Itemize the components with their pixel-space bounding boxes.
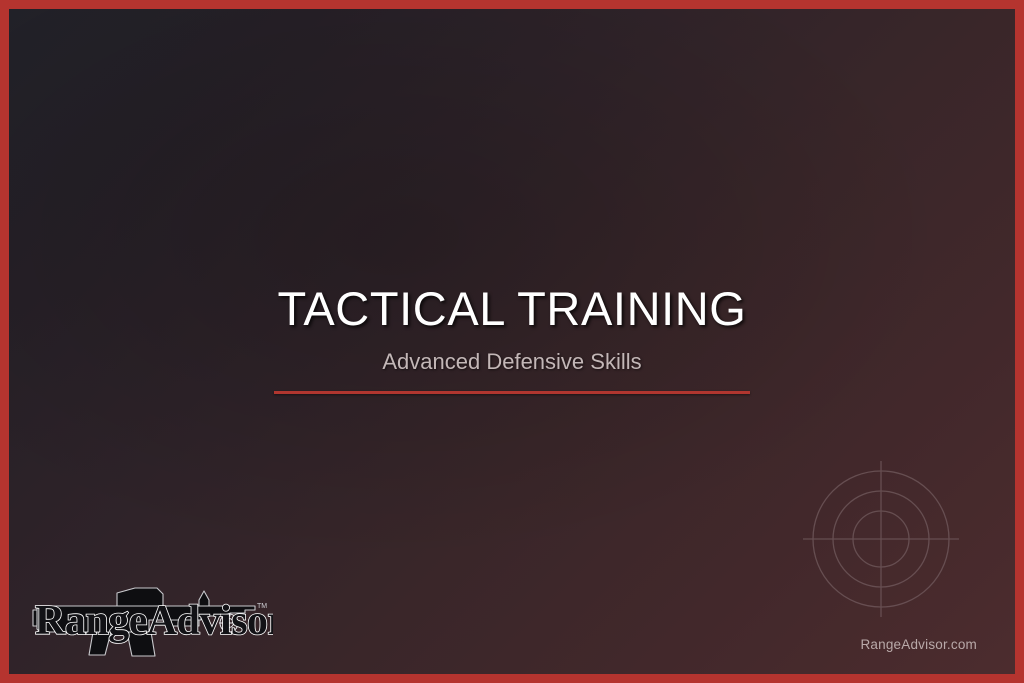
page-subtitle: Advanced Defensive Skills [9, 351, 1015, 373]
title-divider [274, 391, 750, 394]
footer-url: RangeAdvisor.com [860, 637, 977, 652]
logo-trademark: TM [257, 603, 267, 610]
crosshair-target-icon [803, 461, 959, 617]
brand-logo: RangeAdvisor TM [31, 576, 273, 658]
title-block: TACTICAL TRAINING Advanced Defensive Ski… [9, 285, 1015, 394]
logo-wordmark: RangeAdvisor [35, 598, 273, 644]
page-title: TACTICAL TRAINING [9, 285, 1015, 332]
presentation-slide: TACTICAL TRAINING Advanced Defensive Ski… [0, 0, 1024, 683]
